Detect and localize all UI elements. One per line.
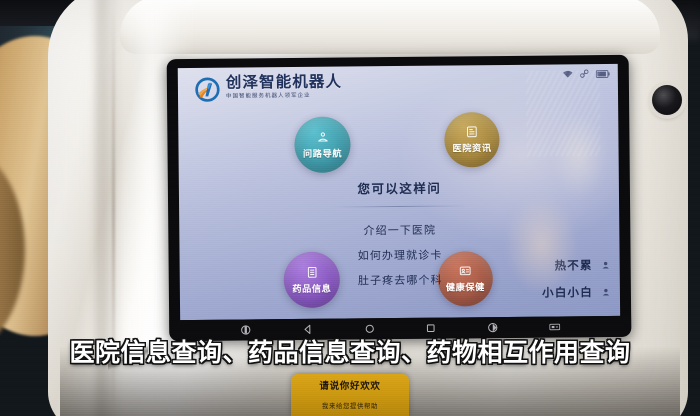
bubble-label: 问路导航 xyxy=(303,145,342,159)
user-name: 热不累 xyxy=(554,257,592,273)
voice-prompt-box: 请说你好欢欢 我来给您提供帮助 xyxy=(291,374,409,416)
bubble-label: 医院资讯 xyxy=(452,140,491,154)
user-name: 小白小白 xyxy=(542,284,593,300)
ask-suggestion-item[interactable]: 介绍一下医院 xyxy=(327,221,472,238)
ask-panel-divider xyxy=(331,205,468,207)
volume-up-icon[interactable] xyxy=(487,322,498,333)
list-lines-icon xyxy=(305,265,318,278)
list-item[interactable]: 热不累 xyxy=(542,257,610,274)
ask-panel-heading: 您可以这样问 xyxy=(327,177,472,197)
ask-suggestion-list: 介绍一下医院 如何办理就诊卡 肚子疼去哪个科 xyxy=(327,221,473,288)
phoenix-swoosh-logo-icon xyxy=(194,77,221,104)
tablet-device: 创泽智能机器人 中国智能服务机器人领军企业 xyxy=(167,55,632,341)
robot-top-panel xyxy=(120,0,660,54)
photo-scene: 创泽智能机器人 中国智能服务机器人领军企业 xyxy=(0,0,700,416)
person-icon xyxy=(602,261,610,269)
camera-lens-icon xyxy=(652,85,682,115)
volume-down-icon[interactable] xyxy=(241,324,252,335)
status-bar xyxy=(563,69,610,78)
recents-square-icon[interactable] xyxy=(425,323,436,334)
screenshot-icon[interactable] xyxy=(549,321,560,332)
battery-icon xyxy=(596,69,610,77)
ask-panel: 您可以这样问 介绍一下医院 如何办理就诊卡 肚子疼去哪个科 xyxy=(327,177,473,288)
person-icon xyxy=(602,288,610,296)
list-item[interactable]: 小白小白 xyxy=(542,284,610,301)
voice-prompt-primary: 请说你好欢欢 xyxy=(319,378,380,392)
news-document-icon xyxy=(465,125,478,138)
brand-title: 创泽智能机器人 xyxy=(226,75,342,92)
ask-suggestion-item[interactable]: 肚子疼去哪个科 xyxy=(328,271,473,288)
robot-app: 创泽智能机器人 中国智能服务机器人领军企业 xyxy=(178,64,620,320)
voice-prompt-secondary: 我来给您提供帮助 xyxy=(322,401,378,410)
bubble-hospital-news[interactable]: 医院资讯 xyxy=(444,112,500,168)
brand-text: 创泽智能机器人 中国智能服务机器人领军企业 xyxy=(226,75,342,101)
brand-header: 创泽智能机器人 中国智能服务机器人领军企业 xyxy=(194,75,342,104)
ask-suggestion-item[interactable]: 如何办理就诊卡 xyxy=(327,246,472,263)
home-circle-icon[interactable] xyxy=(364,323,375,334)
map-pin-person-icon xyxy=(316,130,329,143)
bubble-label: 药品信息 xyxy=(292,280,331,294)
wifi-icon xyxy=(563,70,573,78)
bubble-wayfinding[interactable]: 问路导航 xyxy=(294,116,351,173)
back-triangle-icon[interactable] xyxy=(302,324,313,335)
user-list: 热不累 小白小白 xyxy=(542,257,610,301)
video-caption: 医院信息查询、药品信息查询、药物相互作用查询 xyxy=(0,340,700,365)
brand-subtitle: 中国智能服务机器人领军企业 xyxy=(226,94,342,101)
tablet-screen: 创泽智能机器人 中国智能服务机器人领军企业 xyxy=(178,64,620,320)
bluetooth-link-icon xyxy=(580,69,589,78)
